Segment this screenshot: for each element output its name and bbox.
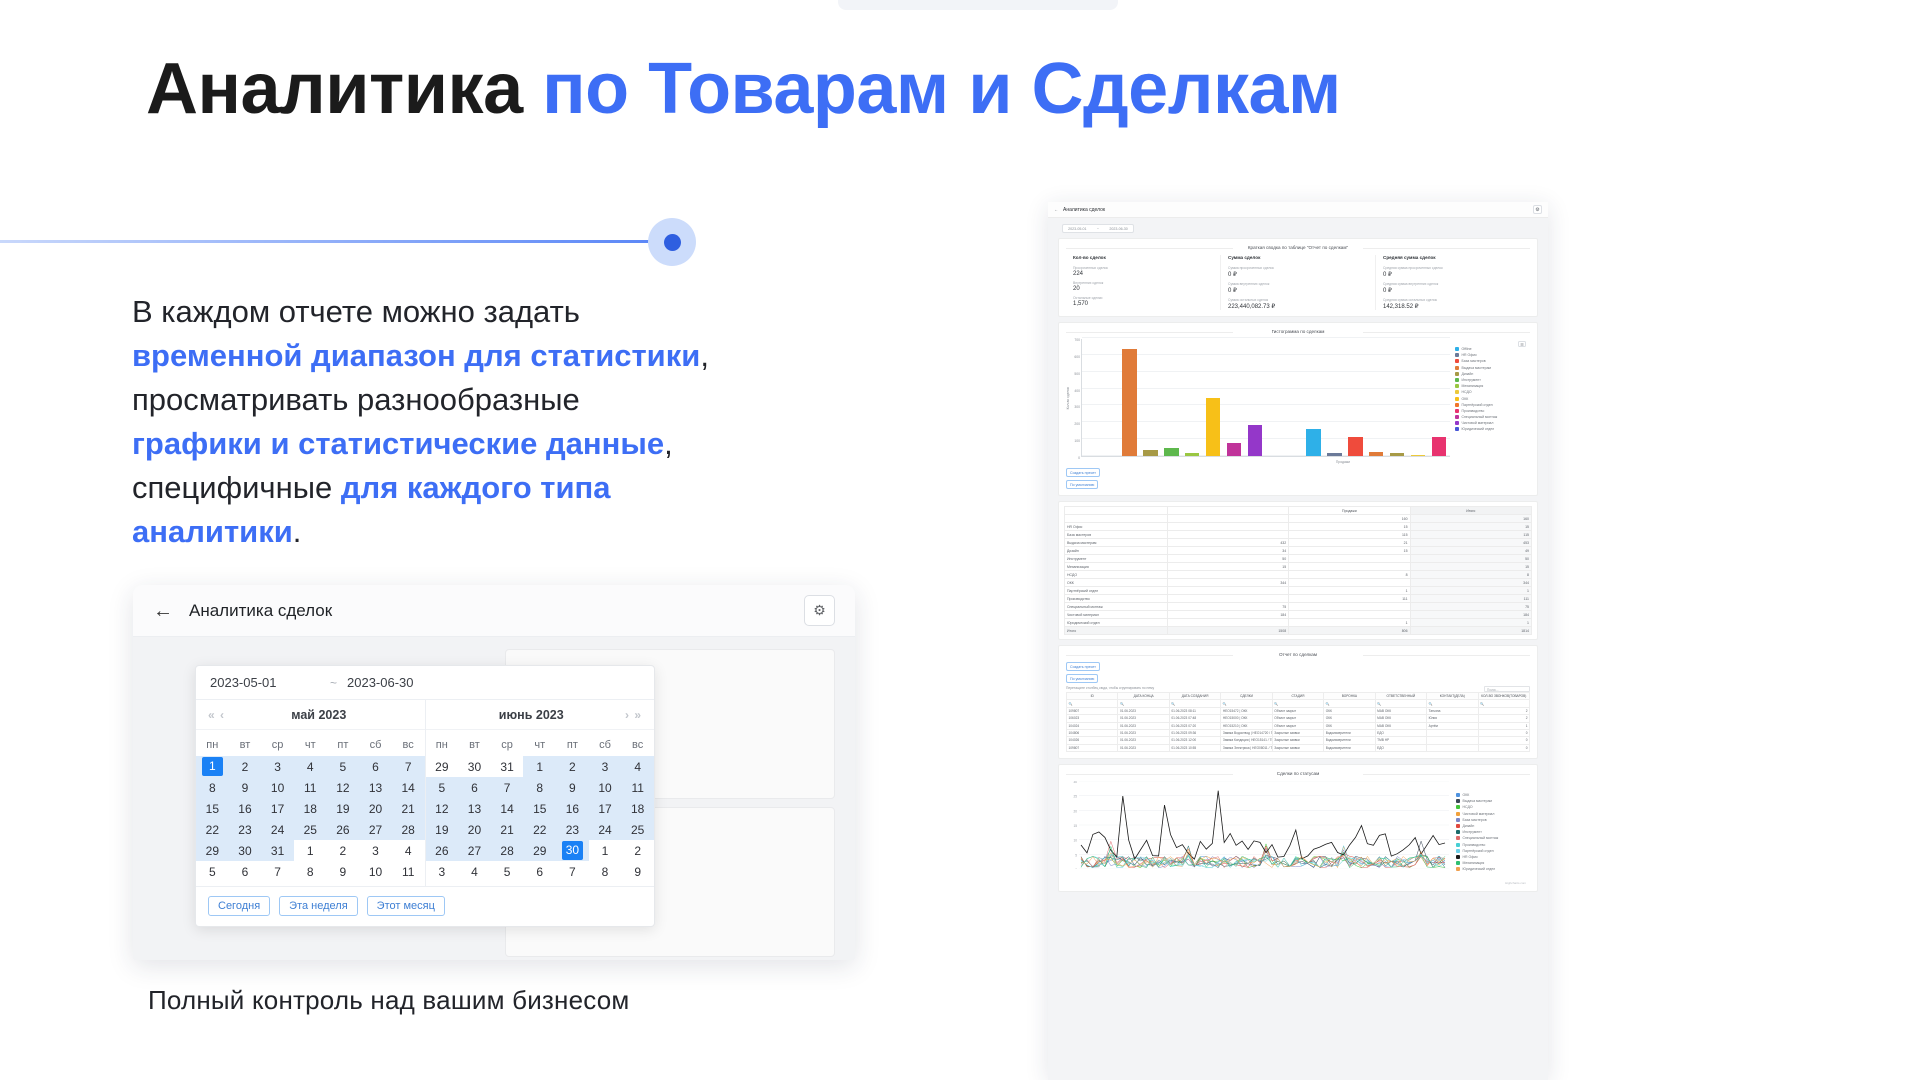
legend-item[interactable]: ОКК: [1456, 793, 1530, 797]
table-cell: [1289, 611, 1410, 619]
arrow-left-icon[interactable]: ←: [1054, 207, 1058, 212]
bar[interactable]: [1164, 448, 1178, 456]
calendar-day[interactable]: 6: [229, 861, 262, 882]
calendar-day[interactable]: 29: [426, 756, 459, 777]
calendar-day[interactable]: 24: [261, 819, 294, 840]
calendar-day[interactable]: 10: [359, 861, 392, 882]
table-cell: 01.06.2023 09:36: [1169, 729, 1220, 736]
legend-item[interactable]: Юридический отдел: [1455, 427, 1530, 431]
gridline: [1082, 404, 1450, 405]
calendar-day[interactable]: 1: [294, 840, 327, 861]
bar[interactable]: [1327, 453, 1341, 456]
column-filter-input[interactable]: 🔍: [1478, 700, 1530, 707]
table-cell: [1167, 595, 1288, 603]
bar[interactable]: [1369, 452, 1383, 456]
bar-chart-title: Гистограмма по сделкам: [1066, 329, 1530, 334]
kpi-row-value: 0 ₽: [1228, 271, 1368, 278]
table-cell: Объект закрыт: [1272, 715, 1323, 722]
legend-item[interactable]: Специальный монтаж: [1456, 836, 1530, 840]
table-cell: [1167, 571, 1288, 579]
svg-text:20: 20: [1073, 809, 1077, 813]
report-search-input[interactable]: Поиск...: [1484, 686, 1530, 692]
line-chart-panel: Сделки по статусам 051015202530 ОККВыдач…: [1058, 764, 1538, 892]
prev-year-icon[interactable]: «: [208, 708, 216, 722]
table-cell: 160: [1410, 515, 1531, 523]
table-cell: [1065, 515, 1168, 523]
legend-label: Производство: [1462, 409, 1485, 413]
legend-label: Юридический отдел: [1463, 867, 1496, 871]
calendar-day[interactable]: 11: [392, 861, 425, 882]
legend-swatch: [1455, 347, 1459, 351]
legend-item[interactable]: НСДО: [1456, 805, 1530, 809]
calendar-day[interactable]: 2: [556, 756, 589, 777]
calendar-day[interactable]: 1: [589, 840, 622, 861]
bar[interactable]: [1306, 429, 1320, 456]
table-row[interactable]: 10480601.06.202301.06.2023 09:36Заявка В…: [1067, 729, 1530, 736]
weekday-header: чт: [523, 734, 556, 756]
bar[interactable]: [1185, 453, 1199, 456]
calendar-day[interactable]: 9: [229, 777, 262, 798]
gridline: [1082, 388, 1450, 389]
calendar-day[interactable]: 5: [327, 756, 360, 777]
calendar-day[interactable]: 11: [621, 777, 654, 798]
bar[interactable]: [1348, 437, 1362, 456]
default-preset-button-2[interactable]: По умолчанию: [1066, 674, 1098, 683]
bar-chart-legend[interactable]: OfflineHR ОфисБаза мастеровВыдача мастер…: [1450, 339, 1530, 457]
calendar-day[interactable]: 13: [458, 798, 491, 819]
calendar-day[interactable]: 8: [196, 777, 229, 798]
calendar-day[interactable]: 28: [392, 819, 425, 840]
calendar-shortcuts[interactable]: СегодняЭта неделяЭтот месяц: [196, 886, 654, 926]
calendar-day[interactable]: 22: [196, 819, 229, 840]
bar-chart-ytick: 700: [1074, 338, 1080, 342]
table-cell: 184: [1410, 611, 1531, 619]
table-cell: 160: [1289, 515, 1410, 523]
column-filter-input[interactable]: 🔍: [1324, 700, 1375, 707]
table-cell: 1: [1289, 619, 1410, 627]
calendar-day[interactable]: 14: [392, 777, 425, 798]
calendar-day[interactable]: 9: [327, 861, 360, 882]
legend-item[interactable]: Выдача мастерам: [1455, 366, 1530, 370]
calendar-day[interactable]: 24: [589, 819, 622, 840]
table-cell: Специальный монтаж: [1065, 603, 1168, 611]
calendar-day[interactable]: 2: [229, 756, 262, 777]
table-cell: 806: [1289, 627, 1410, 635]
table-cell: 15: [1289, 547, 1410, 555]
legend-item[interactable]: Чистовой материал: [1455, 421, 1530, 425]
legend-item[interactable]: Партнёрский отдел: [1455, 403, 1530, 407]
weekday-header: пн: [426, 734, 459, 756]
table-cell: 109807: [1067, 744, 1118, 751]
date-range-picker[interactable]: 2023-05-01 ~ 2023-06-30 « ‹ май 2023 пнв…: [195, 665, 655, 927]
table-cell: 01.06.2023: [1118, 722, 1169, 729]
calendar-day[interactable]: 9: [621, 861, 654, 882]
report-filter-row[interactable]: 🔍🔍🔍🔍🔍🔍🔍🔍🔍: [1067, 700, 1530, 707]
calendar-day[interactable]: 28: [491, 840, 524, 861]
calendar-day[interactable]: 5: [426, 777, 459, 798]
gear-icon[interactable]: ⚙: [804, 595, 835, 626]
calendar-day[interactable]: 27: [458, 840, 491, 861]
calendar-day[interactable]: 9: [556, 777, 589, 798]
legend-item[interactable]: HR Офис: [1455, 353, 1530, 357]
calendar-day[interactable]: 11: [294, 777, 327, 798]
report-group-hint: Поиск... Перетащите столбец сюда, чтобы …: [1066, 686, 1530, 690]
calendar-day[interactable]: 12: [327, 777, 360, 798]
calendar-day[interactable]: 16: [229, 798, 262, 819]
report-column-header[interactable]: КОЛ-ВО ЗВОНКОВ(ТОВАРОВ): [1478, 693, 1530, 700]
line-chart: 051015202530 ОККВыдача мастерамНСДОЧисто…: [1066, 781, 1530, 881]
column-filter-input[interactable]: 🔍: [1169, 700, 1220, 707]
calendar-day[interactable]: 20: [458, 819, 491, 840]
legend-label: Инструмент: [1463, 830, 1482, 834]
summary-table-panel: ПродажиИтого 160160HR Офис1515База масте…: [1058, 501, 1538, 640]
calendar-day[interactable]: 6: [359, 756, 392, 777]
dashboard-range-end[interactable]: 2023-06-30: [1109, 227, 1127, 231]
create-preset-button[interactable]: Создать пресет: [1066, 468, 1100, 477]
bar[interactable]: [1227, 443, 1241, 456]
table-cell: Объект закрыт: [1272, 722, 1323, 729]
legend-item[interactable]: Специальный монтаж: [1455, 415, 1530, 419]
bar[interactable]: [1206, 398, 1220, 456]
table-cell: 15: [1410, 563, 1531, 571]
gridline: [1082, 371, 1450, 372]
calendar-day[interactable]: 26: [426, 840, 459, 861]
calendar-day[interactable]: 4: [392, 840, 425, 861]
legend-item[interactable]: НСДО: [1455, 390, 1530, 394]
report-column-header[interactable]: ДАТА КОНЦА: [1118, 693, 1169, 700]
calendar-day[interactable]: 30: [229, 840, 262, 861]
calendar-week: 891011121314: [196, 777, 425, 798]
legend-item[interactable]: Дизайн: [1456, 824, 1530, 828]
table-cell: Итого: [1065, 627, 1168, 635]
bar[interactable]: [1122, 349, 1136, 456]
card-body: м" сделок: делок 2023-05-01 ~ 2023-06-30…: [133, 637, 855, 960]
legend-item[interactable]: Производство: [1456, 843, 1530, 847]
calendar-day[interactable]: 15: [196, 798, 229, 819]
table-cell: Водоизмерители: [1324, 744, 1375, 751]
start-date-input[interactable]: 2023-05-01: [210, 675, 320, 690]
table-cell: ОКК: [1324, 707, 1375, 714]
calendar-day[interactable]: 1: [196, 756, 229, 777]
kpi-row-label: Сумма остальных сделок: [1228, 298, 1368, 302]
calendar-day[interactable]: 31: [491, 756, 524, 777]
legend-item[interactable]: Партнёрский отдел: [1456, 849, 1530, 853]
column-filter-input[interactable]: 🔍: [1067, 700, 1118, 707]
table-cell: 15: [1410, 523, 1531, 531]
calendar-day[interactable]: 18: [621, 798, 654, 819]
body-comma-1: ,: [700, 338, 709, 373]
calendar-day[interactable]: 17: [589, 798, 622, 819]
legend-swatch: [1456, 799, 1460, 803]
legend-item[interactable]: Offline: [1455, 347, 1530, 351]
next-year-icon[interactable]: »: [634, 708, 642, 722]
default-preset-button[interactable]: По умолчанию: [1066, 480, 1098, 489]
summary-table[interactable]: ПродажиИтого 160160HR Офис1515База масте…: [1064, 506, 1532, 635]
table-cell: Заявка Кондиции | НЕО15141 / Т54028: [1221, 737, 1272, 744]
legend-label: Инструмент: [1462, 378, 1481, 382]
legend-swatch: [1455, 372, 1459, 376]
bar[interactable]: [1248, 425, 1262, 456]
calendar-day[interactable]: 23: [556, 819, 589, 840]
table-cell: Выдача мастерам: [1065, 539, 1168, 547]
table-cell: 50: [1410, 555, 1531, 563]
calendar-day[interactable]: 16: [556, 798, 589, 819]
calendar-day[interactable]: 15: [523, 798, 556, 819]
bar[interactable]: [1432, 437, 1446, 456]
table-row[interactable]: 10602301.06.202301.06.2023 07:48НЕО15000…: [1067, 715, 1530, 722]
table-cell: [1167, 515, 1288, 523]
gridline: [1082, 438, 1450, 439]
table-cell: 1: [1410, 587, 1531, 595]
summary-table-header[interactable]: Продажи: [1289, 507, 1410, 515]
calendar-day[interactable]: 4: [458, 861, 491, 882]
table-cell: [1289, 563, 1410, 571]
kpi-row-label: Средняя сумма внутренних сделок: [1383, 282, 1523, 286]
summary-table-header[interactable]: Итого: [1410, 507, 1531, 515]
legend-label: Выдача мастерам: [1462, 366, 1491, 370]
table-row: Юридический отдел11: [1065, 619, 1532, 627]
table-cell: Закрытые заявки: [1272, 744, 1323, 751]
calendar-day[interactable]: 18: [294, 798, 327, 819]
table-cell: 1508: [1167, 627, 1288, 635]
legend-swatch: [1456, 836, 1460, 840]
calendar-screenshot-card: ← Аналитика сделок ⚙ м" сделок: делок 20…: [133, 585, 855, 960]
kpi-card-title: Сумма сделок: [1228, 255, 1368, 260]
column-filter-input[interactable]: 🔍: [1118, 700, 1169, 707]
calendar-day[interactable]: 12: [426, 798, 459, 819]
calendar-day[interactable]: 3: [426, 861, 459, 882]
table-cell: 111: [1410, 595, 1531, 603]
legend-label: НСДО: [1463, 805, 1473, 809]
svg-text:25: 25: [1073, 795, 1077, 799]
legend-item[interactable]: Производство: [1455, 409, 1530, 413]
report-column-header[interactable]: СТАДИЯ: [1272, 693, 1323, 700]
calendar-day[interactable]: 13: [359, 777, 392, 798]
calendar-day[interactable]: 2: [621, 840, 654, 861]
legend-label: Специальный монтаж: [1463, 836, 1499, 840]
column-filter-input[interactable]: 🔍: [1427, 700, 1478, 707]
body-highlight-2: графики и статистические данные: [132, 426, 664, 461]
calendar-day[interactable]: 4: [621, 756, 654, 777]
legend-label: Партнёрский отдел: [1462, 403, 1493, 407]
table-cell: МАВ ОКК: [1375, 707, 1426, 714]
create-preset-button-2[interactable]: Создать пресет: [1066, 662, 1100, 671]
column-filter-input[interactable]: 🔍: [1221, 700, 1272, 707]
table-cell: 0: [1478, 744, 1530, 751]
table-cell: 75: [1167, 603, 1288, 611]
legend-item[interactable]: Чистовой материал: [1456, 812, 1530, 816]
calendar-day[interactable]: 19: [327, 798, 360, 819]
calendar-day[interactable]: 8: [589, 861, 622, 882]
calendar-day[interactable]: 29: [523, 840, 556, 861]
legend-label: ОКК: [1462, 397, 1469, 401]
calendar-day[interactable]: 6: [523, 861, 556, 882]
calendar-day[interactable]: 10: [589, 777, 622, 798]
date-range-inputs[interactable]: 2023-05-01 ~ 2023-06-30: [196, 666, 654, 700]
calendar-day[interactable]: 23: [229, 819, 262, 840]
table-cell: 50: [1167, 555, 1288, 563]
calendar-day[interactable]: 5: [196, 861, 229, 882]
legend-label: HR Офис: [1462, 353, 1477, 357]
calendar-shortcut-сегодня[interactable]: Сегодня: [208, 896, 270, 916]
legend-item[interactable]: ОКК: [1455, 397, 1530, 401]
report-column-header[interactable]: ВОРОНКА: [1324, 693, 1375, 700]
end-date-input[interactable]: 2023-06-30: [347, 675, 457, 690]
calendar-day[interactable]: 29: [196, 840, 229, 861]
table-row[interactable]: 10980701.06.202301.06.2023 10:55Заявка Э…: [1067, 744, 1530, 751]
gear-icon[interactable]: ⚙: [1533, 205, 1542, 214]
table-cell: Инструмент: [1065, 555, 1168, 563]
calendar-day[interactable]: 4: [294, 756, 327, 777]
legend-item[interactable]: Выдача мастерам: [1456, 799, 1530, 803]
svg-text:5: 5: [1075, 853, 1077, 857]
dashboard-range-start[interactable]: 2023-05-01: [1068, 227, 1086, 231]
calendar-day[interactable]: 31: [261, 840, 294, 861]
table-cell: МАВ ОКК: [1375, 715, 1426, 722]
bar-chart-ytick: 100: [1074, 439, 1080, 443]
table-cell: 15: [1167, 563, 1288, 571]
legend-swatch: [1455, 397, 1459, 401]
kpi-row-label: Средняя сумма остальных сделок: [1383, 298, 1523, 302]
weekday-header: пт: [556, 734, 589, 756]
calendar-grid-left[interactable]: пнвтсрчтптсбвс 1234567891011121314151617…: [196, 734, 425, 882]
legend-label: Чистовой материал: [1463, 812, 1495, 816]
calendar-day[interactable]: 7: [261, 861, 294, 882]
weekday-header: ср: [491, 734, 524, 756]
table-cell: 1: [1410, 619, 1531, 627]
line-chart-legend[interactable]: ОККВыдача мастерамНСДОЧистовой материалБ…: [1452, 781, 1530, 881]
calendar-day[interactable]: 8: [294, 861, 327, 882]
dashboard-title: Аналитика сделок: [1063, 207, 1105, 213]
bar[interactable]: [1390, 453, 1404, 456]
legend-item[interactable]: Инструмент: [1455, 378, 1530, 382]
column-filter-input[interactable]: 🔍: [1272, 700, 1323, 707]
page-title: Аналитика по Товарам и Сделкам: [146, 52, 1746, 128]
calendar-day[interactable]: 3: [261, 756, 294, 777]
legend-item[interactable]: Дизайн: [1455, 372, 1530, 376]
bar-chart-ytick: 400: [1074, 389, 1080, 393]
table-cell: Чистовой материал: [1065, 611, 1168, 619]
calendar-day[interactable]: 27: [359, 819, 392, 840]
table-cell: 01.06.2023: [1118, 744, 1169, 751]
dashboard-date-range[interactable]: 2023-05-01 ~ 2023-06-30: [1062, 224, 1134, 233]
calendar-day[interactable]: 3: [589, 756, 622, 777]
table-row[interactable]: 10402601.06.202301.06.2023 12:00Заявка К…: [1067, 737, 1530, 744]
table-row[interactable]: 10980701.06.202301.06.2023 08:11НЕО15472…: [1067, 707, 1530, 714]
table-row: Специальный монтаж7575: [1065, 603, 1532, 611]
summary-table-header[interactable]: [1167, 507, 1288, 515]
calendar-day[interactable]: 22: [523, 819, 556, 840]
calendar-day[interactable]: 7: [491, 777, 524, 798]
weekday-header: вт: [229, 734, 262, 756]
report-column-header[interactable]: ID: [1067, 693, 1118, 700]
weekday-header: чт: [294, 734, 327, 756]
calendar-day[interactable]: 30: [458, 756, 491, 777]
calendar-day[interactable]: 5: [491, 861, 524, 882]
calendar-nav-right: июнь 2023 › »: [426, 700, 655, 730]
table-cell: [1289, 555, 1410, 563]
calendar-day[interactable]: 25: [294, 819, 327, 840]
calendar-shortcut-этот[interactable]: Этот месяц: [367, 896, 445, 916]
calendar-day[interactable]: 6: [458, 777, 491, 798]
table-cell: Механизация: [1065, 563, 1168, 571]
calendar-day[interactable]: 17: [261, 798, 294, 819]
calendar-day[interactable]: 7: [392, 756, 425, 777]
legend-item[interactable]: Юридический отдел: [1456, 867, 1530, 871]
table-cell: 111: [1289, 595, 1410, 603]
next-month-icon[interactable]: ›: [625, 708, 630, 722]
summary-table-header[interactable]: [1065, 507, 1168, 515]
report-column-header[interactable]: ОТВЕТСТВЕННЫЙ: [1375, 693, 1426, 700]
calendar-grid-right[interactable]: пнвтсрчтптсбвс 2930311234567891011121314…: [426, 734, 655, 882]
bar-chart-xtick: Продажи: [1336, 460, 1350, 464]
arrow-left-icon[interactable]: ←: [153, 601, 173, 621]
weekday-header: сб: [589, 734, 622, 756]
calendar-day[interactable]: 14: [491, 798, 524, 819]
table-cell: 104806: [1067, 729, 1118, 736]
table-cell: Производство: [1065, 595, 1168, 603]
line-chart-svg: 051015202530: [1066, 781, 1452, 869]
report-column-header[interactable]: СДЕЛКИ: [1221, 693, 1272, 700]
calendar-day[interactable]: 1: [523, 756, 556, 777]
table-row[interactable]: 10402401.06.202301.06.2023 07:20НЕО15210…: [1067, 722, 1530, 729]
report-column-header[interactable]: ДАТА СОЗДАНИЯ: [1169, 693, 1220, 700]
legend-item[interactable]: Механизация: [1456, 861, 1530, 865]
calendar-day[interactable]: 3: [359, 840, 392, 861]
calendar-day[interactable]: 10: [261, 777, 294, 798]
calendar-day[interactable]: 21: [491, 819, 524, 840]
calendar-day[interactable]: 19: [426, 819, 459, 840]
calendar-day[interactable]: 26: [327, 819, 360, 840]
calendar-day[interactable]: 30: [556, 840, 589, 861]
legend-item[interactable]: База мастеров: [1456, 818, 1530, 822]
range-separator: ~: [330, 676, 337, 690]
kpi-card: Сумма сделокСумма просроченных сделок0 ₽…: [1220, 255, 1375, 310]
kpi-row-label: Просроченных сделок: [1073, 266, 1213, 270]
calendar-shortcut-эта[interactable]: Эта неделя: [279, 896, 358, 916]
bar[interactable]: [1411, 455, 1425, 456]
table-cell: [1167, 619, 1288, 627]
legend-swatch: [1456, 824, 1460, 828]
calendar-day[interactable]: 8: [523, 777, 556, 798]
table-cell: 1: [1289, 587, 1410, 595]
calendar-day[interactable]: 7: [556, 861, 589, 882]
table-cell: МАВ ОКК: [1375, 722, 1426, 729]
legend-item[interactable]: Инструмент: [1456, 830, 1530, 834]
bar[interactable]: [1143, 450, 1157, 456]
legend-item[interactable]: Механизация: [1455, 384, 1530, 388]
weekday-header: пн: [196, 734, 229, 756]
table-cell: HR Офис: [1065, 523, 1168, 531]
legend-item[interactable]: База мастеров: [1455, 359, 1530, 363]
report-column-header[interactable]: КОНТАКТ(ДЕЛА): [1427, 693, 1478, 700]
kpi-row-value: 223,440,082.73 ₽: [1228, 303, 1368, 310]
table-cell: ОКК: [1324, 715, 1375, 722]
calendar-day[interactable]: 20: [359, 798, 392, 819]
report-table[interactable]: IDДАТА КОНЦАДАТА СОЗДАНИЯСДЕЛКИСТАДИЯВОР…: [1066, 692, 1530, 752]
table-cell: Закрытые заявки: [1272, 737, 1323, 744]
legend-label: ОКК: [1463, 793, 1470, 797]
table-row: Механизация1515: [1065, 563, 1532, 571]
legend-item[interactable]: HR Офис: [1456, 855, 1530, 859]
body-line-3: просматривать разнообразные: [132, 382, 580, 417]
calendar-day[interactable]: 25: [621, 819, 654, 840]
divider-dot: [648, 218, 696, 266]
calendar-day[interactable]: 21: [392, 798, 425, 819]
calendar-day[interactable]: 2: [327, 840, 360, 861]
column-filter-input[interactable]: 🔍: [1375, 700, 1426, 707]
table-cell: 432: [1167, 539, 1288, 547]
